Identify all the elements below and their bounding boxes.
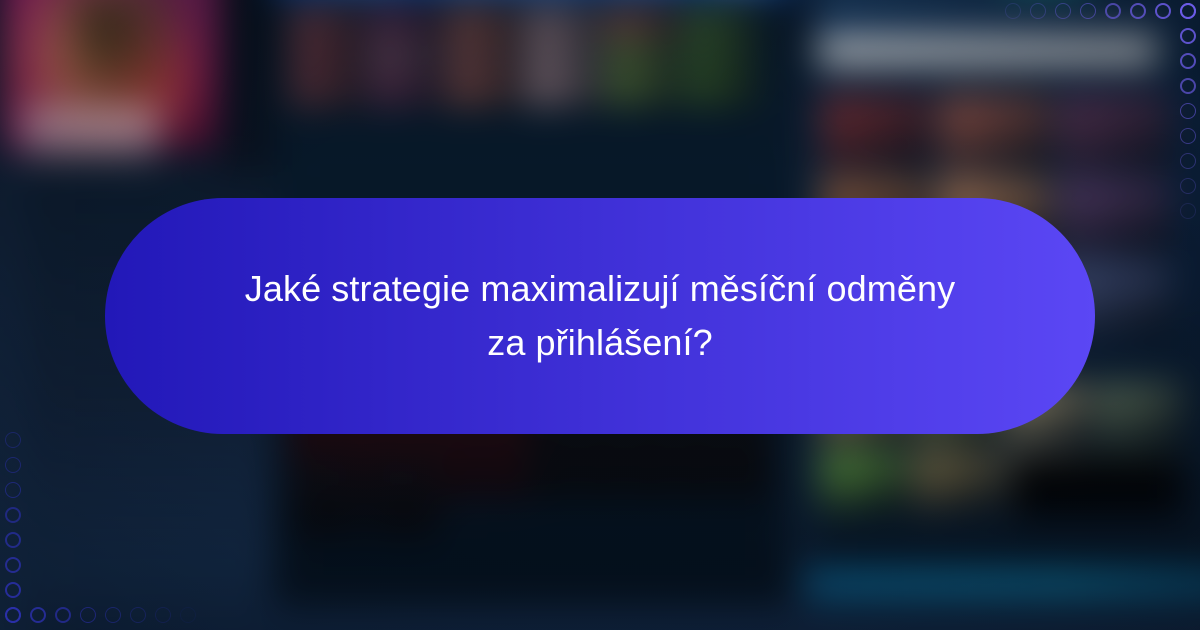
question-text: Jaké strategie maximalizují měsíční odmě… — [245, 262, 955, 370]
question-card: Jaké strategie maximalizují měsíční odmě… — [105, 198, 1095, 434]
question-line-2: za přihlášení? — [245, 316, 955, 370]
question-line-1: Jaké strategie maximalizují měsíční odmě… — [245, 262, 955, 316]
share-card-canvas: Jaké strategie maximalizují měsíční odmě… — [0, 0, 1200, 630]
